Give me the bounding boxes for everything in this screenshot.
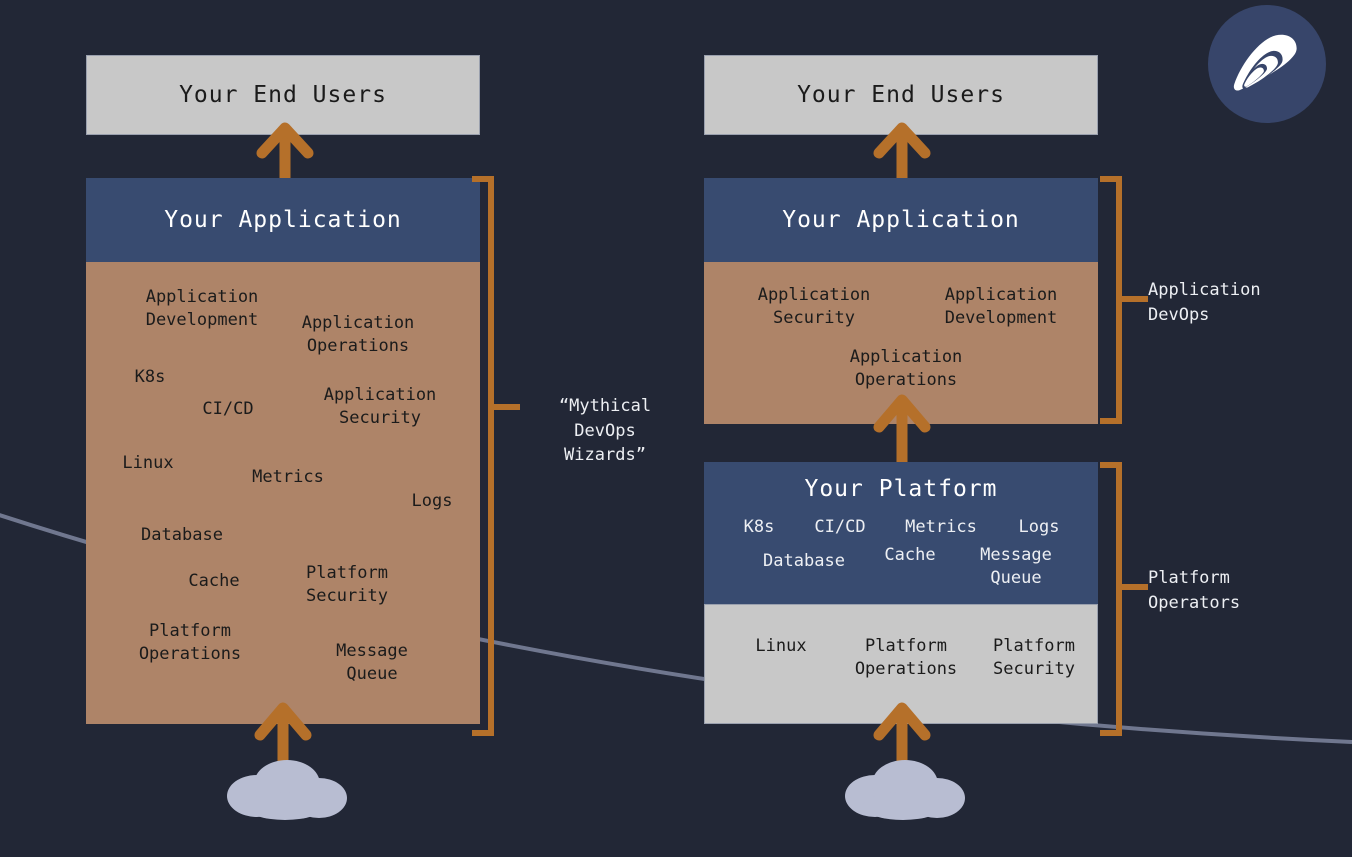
diagram-canvas: Your End Users Your Application Applicat… (0, 0, 1352, 857)
application-devops-bracket-tick (1122, 296, 1148, 302)
skill-metrics: Metrics (238, 466, 338, 489)
platform-operators-label: Platform Operators (1148, 566, 1338, 615)
right-application-box: Your Application (704, 178, 1098, 262)
mythical-devops-bracket-tick (494, 404, 520, 410)
skill-platform-operations: Platform Operations (110, 620, 270, 666)
skill-application-security: Application Security (300, 384, 460, 430)
platform-operators-bracket (1100, 462, 1122, 736)
skill-application-development: Application Development (122, 286, 282, 332)
skill-database: Database (122, 524, 242, 547)
mythical-devops-label: “Mythical DevOps Wizards” (520, 394, 690, 468)
right-end-users-label: Your End Users (797, 82, 1005, 108)
platform-operators-bracket-tick (1122, 584, 1148, 590)
skill-cicd: CI/CD (180, 398, 276, 421)
shell-logo-icon (1228, 25, 1306, 103)
left-application-box: Your Application (86, 178, 480, 262)
foundation-skill-platform-security: Platform Security (969, 635, 1099, 681)
skill-cache: Cache (164, 570, 264, 593)
right-cloud-icon (833, 758, 973, 820)
right-application-label: Your Application (782, 207, 1020, 233)
right-app-to-users-arrow (872, 120, 932, 182)
left-cloud-icon (215, 758, 355, 820)
skill-platform-security: Platform Security (272, 562, 422, 608)
right-skill-application-security: Application Security (734, 284, 894, 330)
platform-skill-k8s: K8s (724, 516, 794, 539)
skill-logs: Logs (392, 490, 472, 513)
platform-skill-metrics: Metrics (896, 516, 986, 539)
left-application-label: Your Application (164, 207, 402, 233)
right-platform-label: Your Platform (804, 476, 997, 502)
shell-logo (1208, 5, 1326, 123)
foundation-skill-platform-operations: Platform Operations (831, 635, 981, 681)
left-app-to-users-arrow (255, 120, 315, 182)
left-end-users-label: Your End Users (179, 82, 387, 108)
platform-to-app-arrow (872, 392, 932, 464)
application-devops-bracket (1100, 176, 1122, 424)
right-platform-box: Your Platform K8s CI/CD Metrics Logs Dat… (704, 462, 1098, 604)
platform-skill-database: Database (746, 550, 862, 573)
platform-skill-cache: Cache (870, 544, 950, 567)
mythical-devops-bracket (472, 176, 494, 736)
skill-k8s: K8s (110, 366, 190, 389)
left-skills-box: Application Development Application Oper… (86, 262, 480, 724)
skill-application-operations: Application Operations (278, 312, 438, 358)
application-devops-label: Application DevOps (1148, 278, 1338, 327)
platform-skill-message-queue: Message Queue (956, 544, 1076, 590)
skill-linux: Linux (108, 452, 188, 475)
right-skill-application-operations: Application Operations (826, 346, 986, 392)
platform-skill-cicd: CI/CD (800, 516, 880, 539)
right-skill-application-development: Application Development (916, 284, 1086, 330)
platform-skill-logs: Logs (1004, 516, 1074, 539)
skill-message-queue: Message Queue (302, 640, 442, 686)
foundation-skill-linux: Linux (741, 635, 821, 658)
